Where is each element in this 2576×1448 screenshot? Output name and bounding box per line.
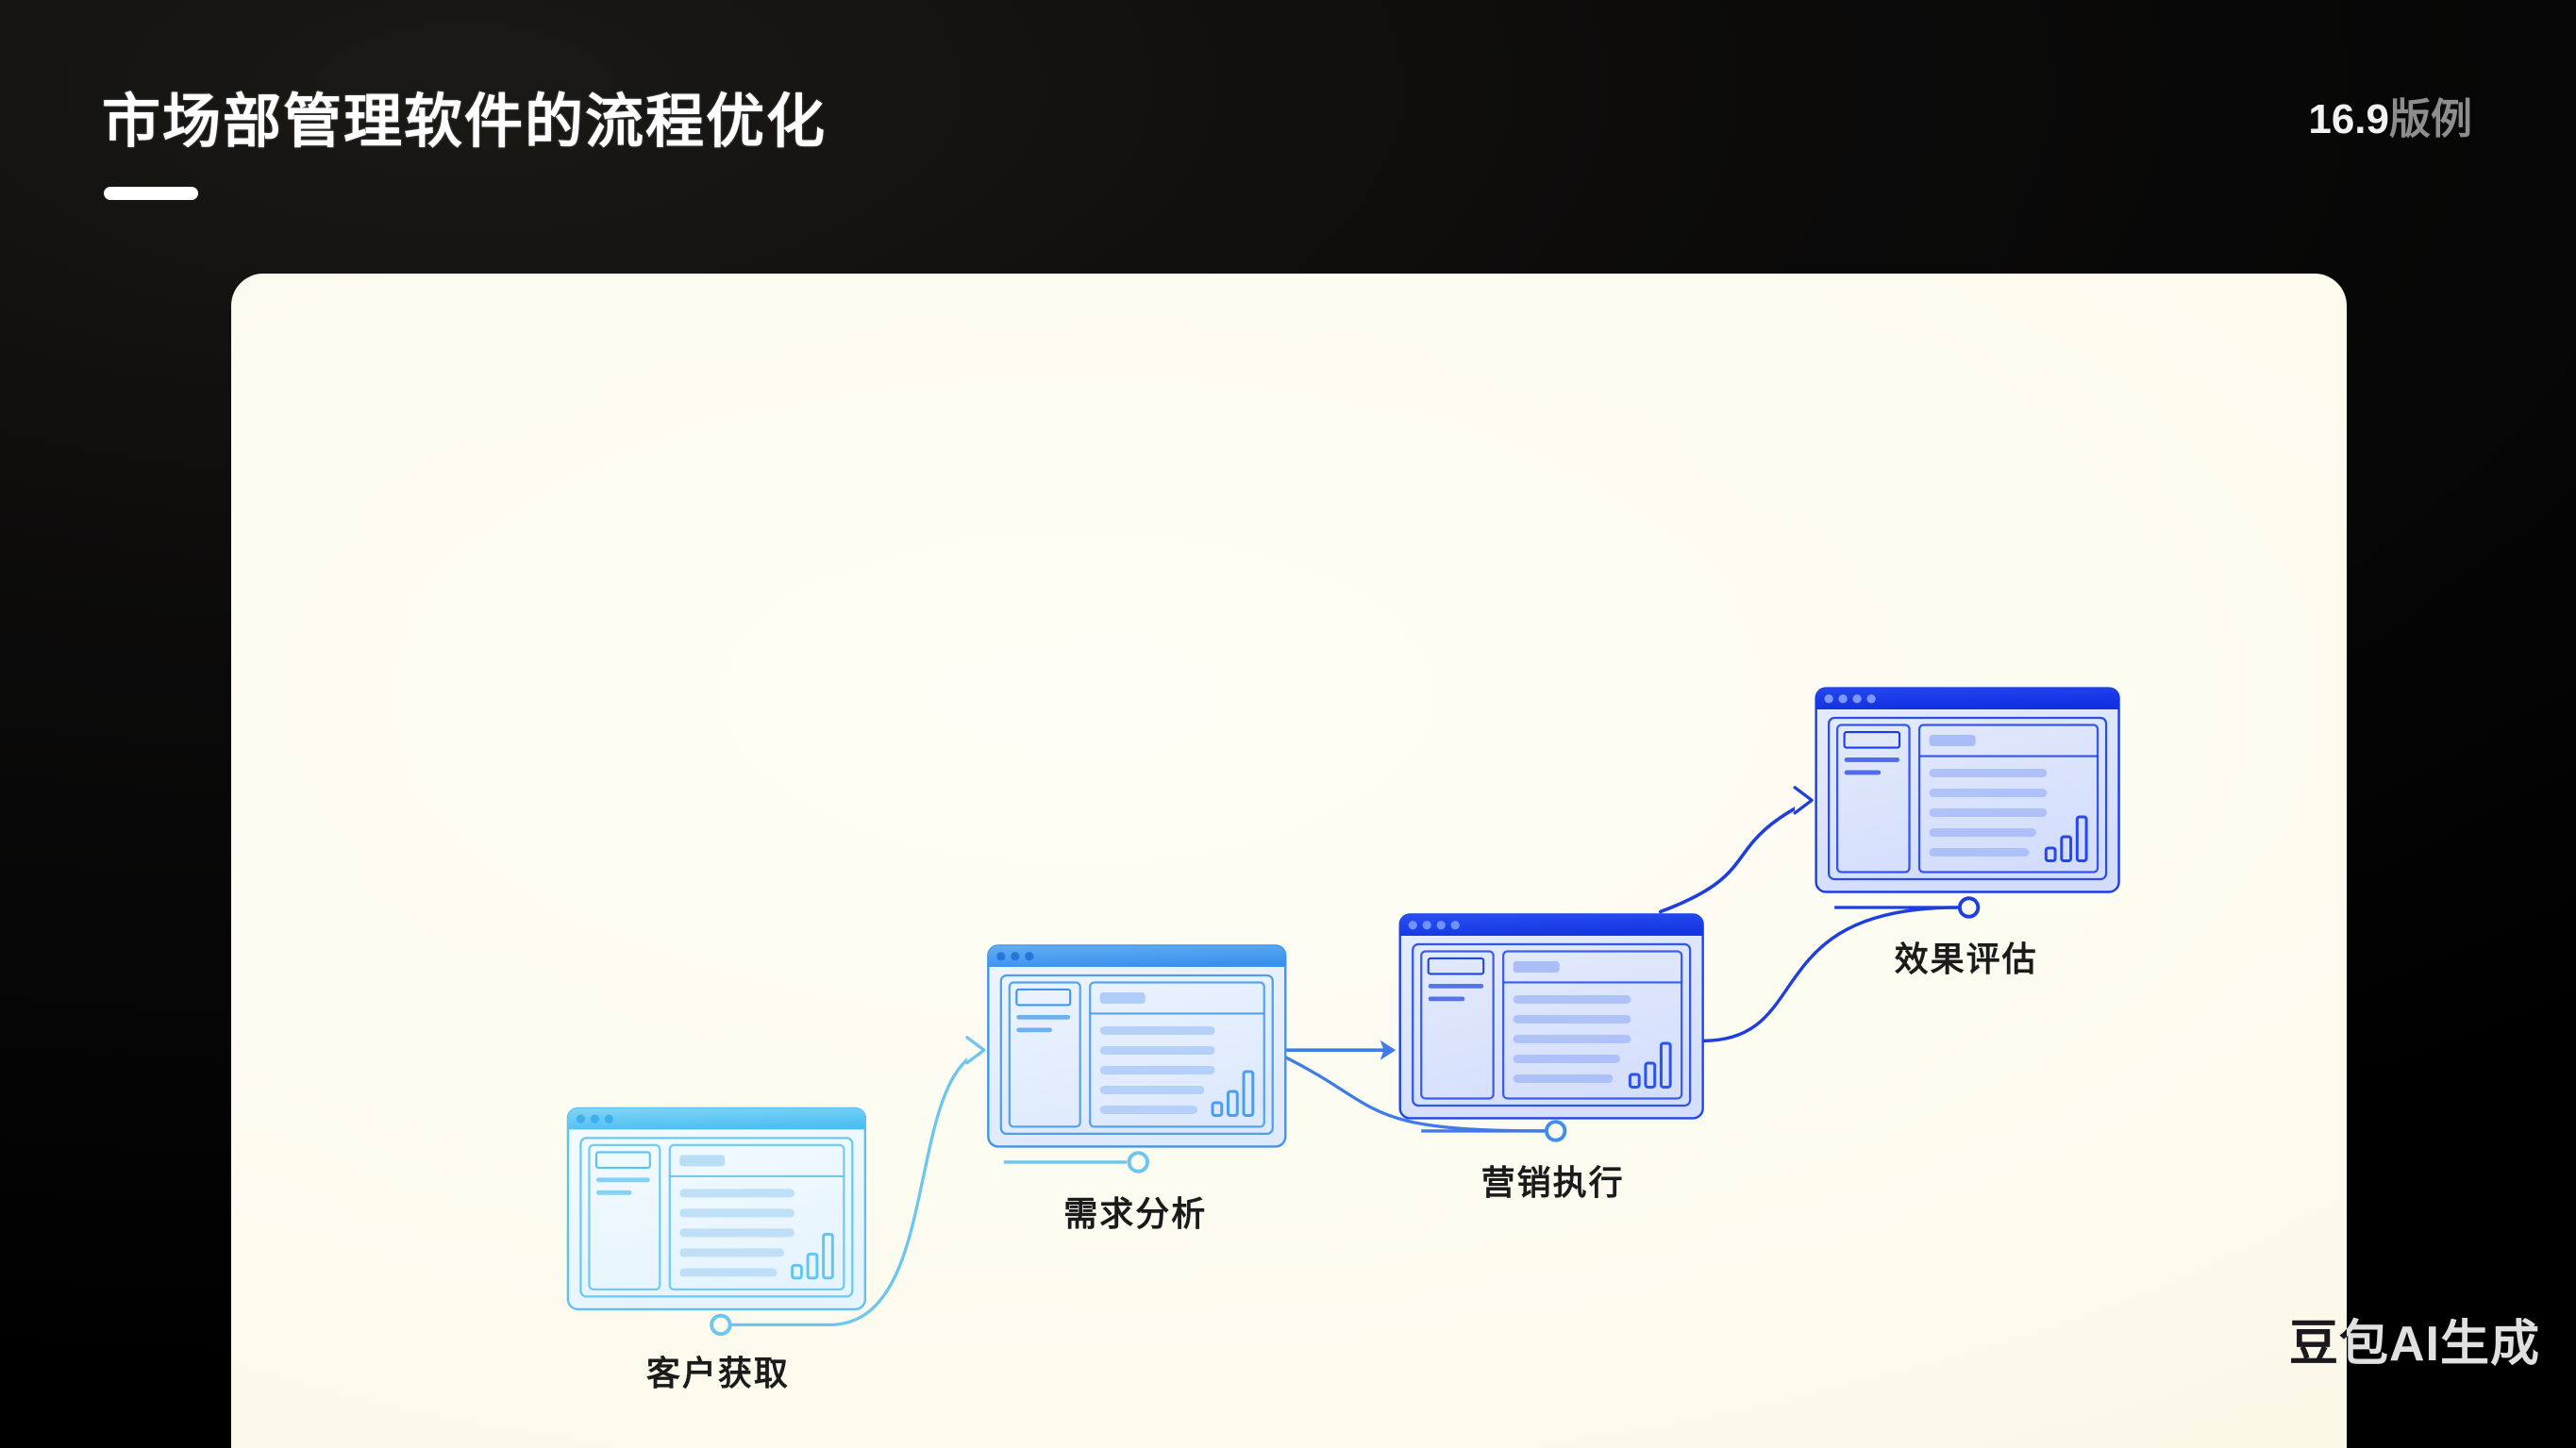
flow-diagram bbox=[231, 274, 2347, 1448]
connector-layer bbox=[732, 788, 1958, 1325]
window-dot bbox=[1838, 694, 1847, 703]
watermark: 豆包AI生成 bbox=[2289, 1304, 2540, 1374]
window-title-bar bbox=[1400, 914, 1703, 935]
slide-canvas: 市场部管理软件的流程优化 16.9版例 客户获取需求 bbox=[0, 0, 2576, 1448]
window-dot bbox=[591, 1115, 599, 1123]
window-dot bbox=[1437, 921, 1446, 929]
connector-1-2-arrowhead bbox=[967, 1038, 984, 1063]
step-label-3: 营销执行 bbox=[1481, 1156, 1625, 1205]
ratio-suffix: 版例 bbox=[2389, 96, 2472, 142]
window-dot bbox=[1409, 921, 1417, 929]
window-dot bbox=[1025, 952, 1033, 960]
page-title: 市场部管理软件的流程优化 bbox=[102, 74, 827, 158]
browser-window-1 bbox=[568, 1108, 865, 1309]
window-dot bbox=[1011, 952, 1019, 960]
step-marker-2 bbox=[1129, 1153, 1147, 1171]
step-marker-1 bbox=[711, 1316, 729, 1334]
window-dot bbox=[996, 952, 1005, 960]
title-underline-accent bbox=[104, 187, 198, 200]
browser-window-4 bbox=[1816, 689, 2119, 892]
window-dot bbox=[577, 1115, 585, 1123]
window-dot bbox=[1423, 921, 1431, 929]
connector-3-4-arrowhead bbox=[1795, 788, 1812, 813]
ratio-badge: 16.9版例 bbox=[2308, 85, 2472, 145]
ratio-number: 16.9 bbox=[2308, 96, 2389, 142]
window-dot bbox=[605, 1115, 613, 1123]
window-dot bbox=[1451, 921, 1460, 929]
window-layer bbox=[568, 689, 2119, 1309]
content-card: 客户获取需求分析营销执行效果评估 bbox=[231, 274, 2347, 1448]
window-dot bbox=[1866, 694, 1875, 703]
step-marker-3 bbox=[1547, 1122, 1564, 1140]
step-label-1: 客户获取 bbox=[646, 1346, 790, 1395]
step-marker-4 bbox=[1960, 898, 1978, 916]
browser-window-2 bbox=[988, 945, 1285, 1146]
step-label-2: 需求分析 bbox=[1063, 1187, 1207, 1236]
browser-window-3 bbox=[1400, 914, 1703, 1118]
window-dot bbox=[1824, 694, 1832, 703]
step-label-4: 效果评估 bbox=[1895, 932, 2038, 981]
connector-3-4 bbox=[1661, 800, 1811, 911]
slide-header: 市场部管理软件的流程优化 16.9版例 bbox=[0, 0, 2576, 274]
marker-layer bbox=[711, 898, 1978, 1334]
window-dot bbox=[1852, 694, 1861, 703]
